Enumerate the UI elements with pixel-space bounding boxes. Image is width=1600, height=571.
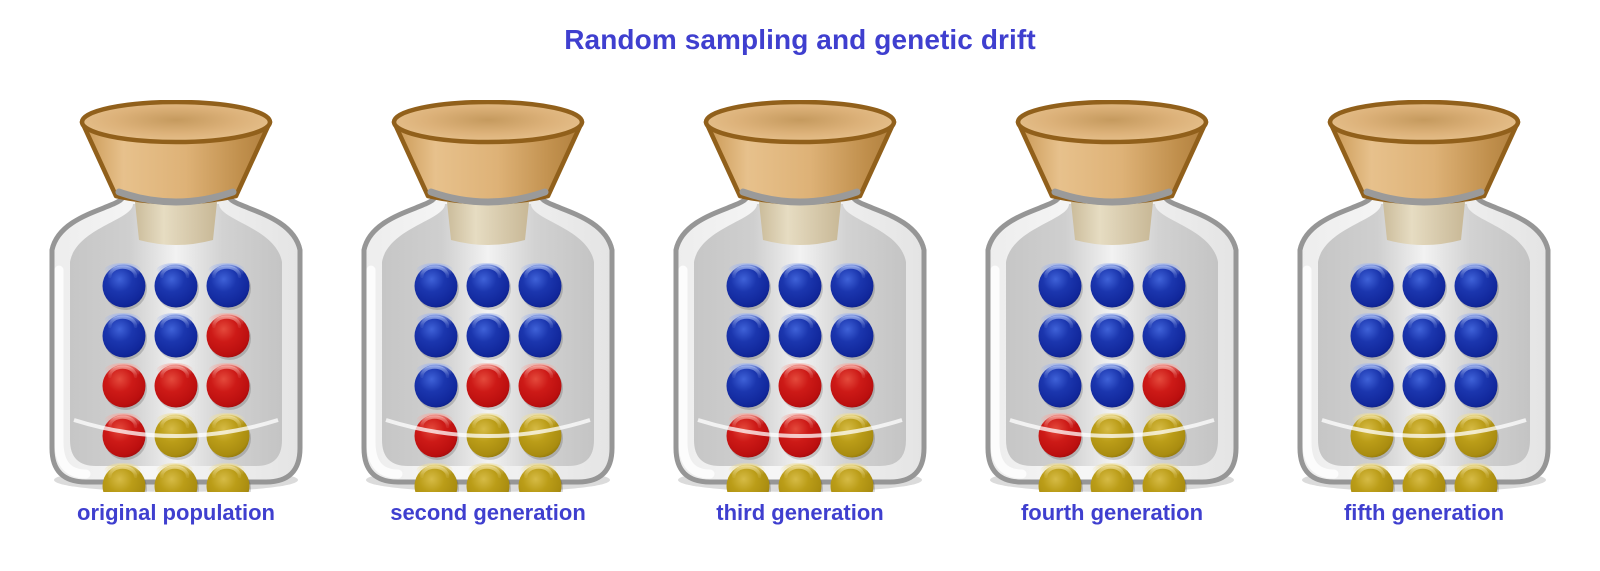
jar-graphic [644, 100, 956, 492]
marble-grid [727, 264, 876, 492]
cork-top-face [1330, 102, 1518, 142]
cork-top-face [394, 102, 582, 142]
jar-illustration [1268, 100, 1580, 492]
cork-top-face [706, 102, 894, 142]
jar-illustration [644, 100, 956, 492]
jar-series: original populationsecond generationthir… [0, 100, 1600, 560]
jar-graphic [332, 100, 644, 492]
cork-in-neck [447, 202, 529, 245]
jar-5: fifth generation [1268, 100, 1580, 560]
jar-2: second generation [332, 100, 644, 560]
jar-label: original population [20, 500, 332, 526]
cork-stopper[interactable] [82, 102, 270, 203]
jar-graphic [1268, 100, 1580, 492]
marble-grid [1351, 264, 1500, 492]
jar-label: third generation [644, 500, 956, 526]
jar-graphic [20, 100, 332, 492]
cork-top-face [82, 102, 270, 142]
page-title: Random sampling and genetic drift [0, 24, 1600, 56]
jar-illustration [332, 100, 644, 492]
cork-stopper[interactable] [706, 102, 894, 203]
genetic-drift-figure: Random sampling and genetic drift origin… [0, 0, 1600, 571]
jar-graphic [956, 100, 1268, 492]
cork-stopper[interactable] [1018, 102, 1206, 203]
jar-4: fourth generation [956, 100, 1268, 560]
jar-label: fifth generation [1268, 500, 1580, 526]
marble-grid [103, 264, 252, 492]
jar-illustration [20, 100, 332, 492]
marble-grid [415, 264, 564, 492]
cork-in-neck [135, 202, 217, 245]
jar-3: third generation [644, 100, 956, 560]
jar-label: fourth generation [956, 500, 1268, 526]
jar-1: original population [20, 100, 332, 560]
cork-in-neck [1071, 202, 1153, 245]
cork-top-face [1018, 102, 1206, 142]
cork-stopper[interactable] [1330, 102, 1518, 203]
cork-in-neck [759, 202, 841, 245]
marble-grid [1039, 264, 1188, 492]
jar-label: second generation [332, 500, 644, 526]
cork-in-neck [1383, 202, 1465, 245]
jar-illustration [956, 100, 1268, 492]
cork-stopper[interactable] [394, 102, 582, 203]
